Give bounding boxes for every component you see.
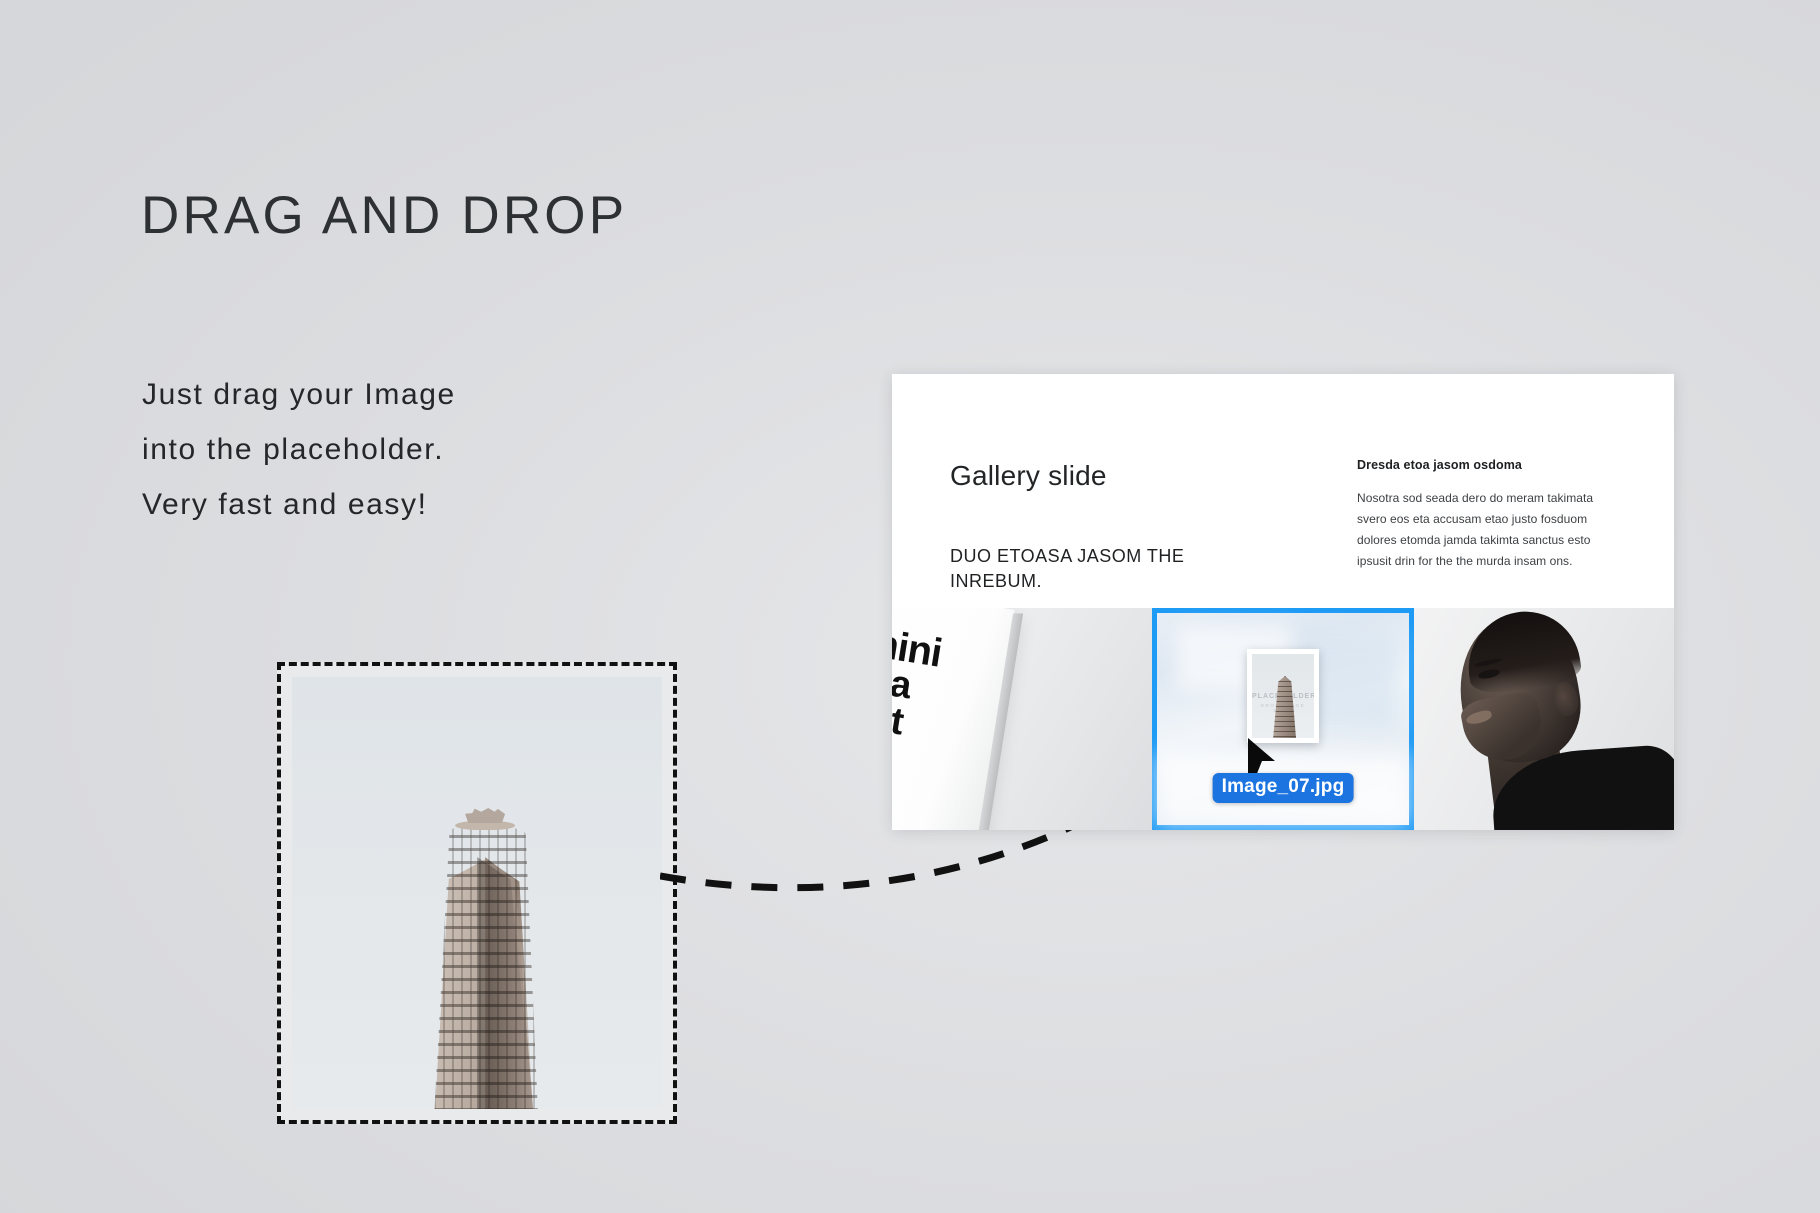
slide-side-column: Dresda etoa jasom osdoma Nosotra sod sea… <box>1357 458 1627 572</box>
image-placeholder-dropzone[interactable] <box>277 662 677 1124</box>
page-title: DRAG AND DROP <box>141 185 627 246</box>
slide-subtitle-line-2: INREBUM. <box>950 569 1184 594</box>
magazine-title: mini ma list <box>892 623 944 745</box>
slide-subtitle-line-1: DUO ETOASA JASOM THE <box>950 544 1184 569</box>
gallery-cell-portrait[interactable] <box>1414 608 1674 830</box>
flatiron-building-photo[interactable] <box>292 677 662 1109</box>
building-crown <box>465 807 505 823</box>
side-body-line-1: Nosotra sod seada dero do meram takimata <box>1357 488 1627 509</box>
side-body-line-3: dolores etomda jamda takimta sanctus est… <box>1357 530 1627 551</box>
slide-header: Gallery slide DUO ETOASA JASOM THE INREB… <box>892 374 1674 608</box>
dragged-file-name-badge: Image_07.jpg <box>1213 773 1354 803</box>
description-line-2: into the placeholder. <box>142 422 456 477</box>
selected-cell-highlight[interactable]: PLACEHOLDER DROP IMAGE HERE Image_07.jpg <box>1152 608 1414 830</box>
slide-preview[interactable]: Gallery slide DUO ETOASA JASOM THE INREB… <box>892 374 1674 830</box>
dragged-image-thumbnail[interactable]: PLACEHOLDER DROP IMAGE HERE <box>1247 649 1319 743</box>
slide-title: Gallery slide <box>950 460 1107 492</box>
flatiron-building-illustration <box>407 809 559 1109</box>
thumbnail-inner: PLACEHOLDER DROP IMAGE HERE <box>1252 654 1314 738</box>
slide-gallery: mini ma list graphics PLACEHOLDER DROP I… <box>892 608 1674 830</box>
side-body-line-4: ipsusit drin for the the murda insam ons… <box>1357 551 1627 572</box>
side-column-heading: Dresda etoa jasom osdoma <box>1357 458 1627 472</box>
side-body-line-2: svero eos eta accusam etao justo fosduom <box>1357 509 1627 530</box>
description-text: Just drag your Image into the placeholde… <box>142 367 456 532</box>
gallery-cell-drop-target[interactable]: PLACEHOLDER DROP IMAGE HERE Image_07.jpg <box>1152 608 1414 830</box>
gallery-cell-magazine[interactable]: mini ma list graphics <box>892 608 1152 830</box>
description-line-3: Very fast and easy! <box>142 477 456 532</box>
description-line-1: Just drag your Image <box>142 367 456 422</box>
side-column-body: Nosotra sod seada dero do meram takimata… <box>1357 488 1627 572</box>
slide-subtitle: DUO ETOASA JASOM THE INREBUM. <box>950 544 1184 594</box>
